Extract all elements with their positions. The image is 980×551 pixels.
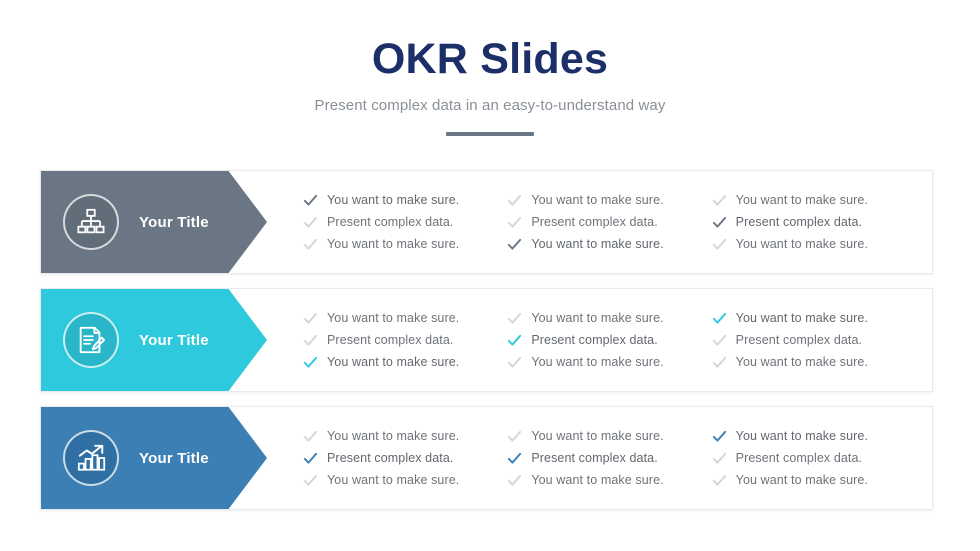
checklist-item[interactable]: Present complex data. bbox=[303, 215, 499, 230]
check-icon-inactive[interactable] bbox=[507, 473, 522, 488]
checklist-item[interactable]: You want to make sure. bbox=[303, 473, 499, 488]
checklist-item[interactable]: You want to make sure. bbox=[507, 237, 703, 252]
checklist-item-label: You want to make sure. bbox=[736, 311, 868, 325]
row-checklist-area: You want to make sure.Present complex da… bbox=[267, 289, 932, 391]
checklist-item-label: Present complex data. bbox=[531, 215, 657, 229]
row-checklist-area: You want to make sure.Present complex da… bbox=[267, 407, 932, 509]
checklist-item[interactable]: You want to make sure. bbox=[303, 355, 499, 370]
check-icon-active[interactable] bbox=[712, 429, 727, 444]
checklist-item[interactable]: You want to make sure. bbox=[712, 193, 908, 208]
checklist-item-label: You want to make sure. bbox=[736, 473, 868, 487]
row-title: Your Title bbox=[139, 450, 209, 467]
check-icon-inactive[interactable] bbox=[303, 429, 318, 444]
check-icon-inactive[interactable] bbox=[303, 473, 318, 488]
checklist-item-label: You want to make sure. bbox=[327, 193, 459, 207]
check-icon-inactive[interactable] bbox=[303, 333, 318, 348]
row-title: Your Title bbox=[139, 214, 209, 231]
slide-header: OKR Slides Present complex data in an ea… bbox=[0, 0, 980, 136]
check-icon-active[interactable] bbox=[507, 237, 522, 252]
check-icon-inactive[interactable] bbox=[712, 451, 727, 466]
row-title: Your Title bbox=[139, 332, 209, 349]
check-icon-inactive[interactable] bbox=[507, 193, 522, 208]
check-icon-inactive[interactable] bbox=[507, 429, 522, 444]
check-icon-inactive[interactable] bbox=[712, 333, 727, 348]
checklist-column: You want to make sure.Present complex da… bbox=[712, 193, 916, 252]
row-icon-circle bbox=[63, 194, 119, 250]
checklist-item-label: You want to make sure. bbox=[531, 473, 663, 487]
checklist-item[interactable]: Present complex data. bbox=[712, 215, 908, 230]
checklist-item-label: You want to make sure. bbox=[531, 311, 663, 325]
check-icon-inactive[interactable] bbox=[712, 473, 727, 488]
checklist-item[interactable]: You want to make sure. bbox=[303, 193, 499, 208]
checklist-item-label: Present complex data. bbox=[531, 451, 657, 465]
checklist-item-label: You want to make sure. bbox=[327, 429, 459, 443]
check-icon-active[interactable] bbox=[303, 451, 318, 466]
row-label-block[interactable]: Your Title bbox=[41, 407, 267, 509]
page-subtitle: Present complex data in an easy-to-under… bbox=[0, 97, 980, 114]
check-icon-inactive[interactable] bbox=[303, 237, 318, 252]
checklist-item[interactable]: Present complex data. bbox=[712, 333, 908, 348]
checklist-column: You want to make sure.Present complex da… bbox=[303, 311, 507, 370]
checklist-column: You want to make sure.Present complex da… bbox=[507, 311, 711, 370]
checklist-item-label: Present complex data. bbox=[736, 333, 862, 347]
row-label-block[interactable]: Your Title bbox=[41, 289, 267, 391]
checklist-item[interactable]: You want to make sure. bbox=[507, 311, 703, 326]
checklist-column: You want to make sure.Present complex da… bbox=[712, 429, 916, 488]
check-icon-inactive[interactable] bbox=[303, 311, 318, 326]
checklist-item[interactable]: Present complex data. bbox=[507, 215, 703, 230]
check-icon-active[interactable] bbox=[712, 311, 727, 326]
check-icon-active[interactable] bbox=[712, 215, 727, 230]
checklist-column: You want to make sure.Present complex da… bbox=[303, 429, 507, 488]
checklist-item[interactable]: You want to make sure. bbox=[507, 429, 703, 444]
page-title: OKR Slides bbox=[0, 36, 980, 83]
org-chart-icon bbox=[76, 207, 106, 237]
row-checklist-area: You want to make sure.Present complex da… bbox=[267, 171, 932, 273]
checklist-item[interactable]: You want to make sure. bbox=[303, 311, 499, 326]
check-icon-inactive[interactable] bbox=[303, 215, 318, 230]
checklist-item-label: You want to make sure. bbox=[531, 355, 663, 369]
checklist-item[interactable]: You want to make sure. bbox=[712, 473, 908, 488]
checklist-item[interactable]: Present complex data. bbox=[303, 451, 499, 466]
checklist-column: You want to make sure.Present complex da… bbox=[303, 193, 507, 252]
checklist-item[interactable]: You want to make sure. bbox=[303, 429, 499, 444]
checklist-column: You want to make sure.Present complex da… bbox=[712, 311, 916, 370]
bar-chart-growth-icon bbox=[76, 443, 106, 473]
checklist-item[interactable]: Present complex data. bbox=[507, 451, 703, 466]
checklist-item-label: Present complex data. bbox=[531, 333, 657, 347]
checklist-column: You want to make sure.Present complex da… bbox=[507, 429, 711, 488]
checklist-item-label: You want to make sure. bbox=[736, 429, 868, 443]
checklist-item-label: You want to make sure. bbox=[736, 193, 868, 207]
checklist-item[interactable]: Present complex data. bbox=[303, 333, 499, 348]
checklist-item-label: You want to make sure. bbox=[531, 237, 663, 251]
check-icon-active[interactable] bbox=[507, 333, 522, 348]
checklist-item-label: Present complex data. bbox=[736, 451, 862, 465]
checklist-item-label: You want to make sure. bbox=[327, 473, 459, 487]
checklist-item-label: Present complex data. bbox=[327, 451, 453, 465]
okr-row: Your TitleYou want to make sure.Present … bbox=[40, 288, 933, 392]
checklist-item-label: You want to make sure. bbox=[327, 311, 459, 325]
okr-rows: Your TitleYou want to make sure.Present … bbox=[40, 170, 933, 510]
checklist-item[interactable]: You want to make sure. bbox=[303, 237, 499, 252]
check-icon-active[interactable] bbox=[507, 451, 522, 466]
checklist-column: You want to make sure.Present complex da… bbox=[507, 193, 711, 252]
checklist-item[interactable]: You want to make sure. bbox=[712, 311, 908, 326]
slide-canvas: OKR Slides Present complex data in an ea… bbox=[0, 0, 980, 551]
check-icon-active[interactable] bbox=[303, 355, 318, 370]
checklist-item-label: You want to make sure. bbox=[327, 237, 459, 251]
checklist-item[interactable]: You want to make sure. bbox=[507, 473, 703, 488]
checklist-item[interactable]: You want to make sure. bbox=[507, 193, 703, 208]
checklist-item-label: You want to make sure. bbox=[327, 355, 459, 369]
check-icon-inactive[interactable] bbox=[712, 193, 727, 208]
checklist-item[interactable]: You want to make sure. bbox=[507, 355, 703, 370]
checklist-item[interactable]: You want to make sure. bbox=[712, 429, 908, 444]
checklist-item[interactable]: You want to make sure. bbox=[712, 355, 908, 370]
checklist-item[interactable]: Present complex data. bbox=[507, 333, 703, 348]
checklist-item-label: You want to make sure. bbox=[736, 355, 868, 369]
check-icon-active[interactable] bbox=[303, 193, 318, 208]
checklist-item-label: Present complex data. bbox=[736, 215, 862, 229]
okr-row: Your TitleYou want to make sure.Present … bbox=[40, 406, 933, 510]
check-icon-inactive[interactable] bbox=[507, 215, 522, 230]
checklist-item-label: Present complex data. bbox=[327, 215, 453, 229]
okr-row: Your TitleYou want to make sure.Present … bbox=[40, 170, 933, 274]
row-label-block[interactable]: Your Title bbox=[41, 171, 267, 273]
checklist-item-label: You want to make sure. bbox=[531, 193, 663, 207]
check-icon-inactive[interactable] bbox=[712, 355, 727, 370]
check-icon-inactive[interactable] bbox=[712, 237, 727, 252]
check-icon-inactive[interactable] bbox=[507, 355, 522, 370]
checklist-item[interactable]: You want to make sure. bbox=[712, 237, 908, 252]
title-divider bbox=[446, 132, 534, 136]
row-icon-circle bbox=[63, 430, 119, 486]
row-icon-circle bbox=[63, 312, 119, 368]
document-pencil-icon bbox=[76, 325, 106, 355]
checklist-item-label: You want to make sure. bbox=[531, 429, 663, 443]
checklist-item-label: You want to make sure. bbox=[736, 237, 868, 251]
checklist-item-label: Present complex data. bbox=[327, 333, 453, 347]
checklist-item[interactable]: Present complex data. bbox=[712, 451, 908, 466]
check-icon-inactive[interactable] bbox=[507, 311, 522, 326]
